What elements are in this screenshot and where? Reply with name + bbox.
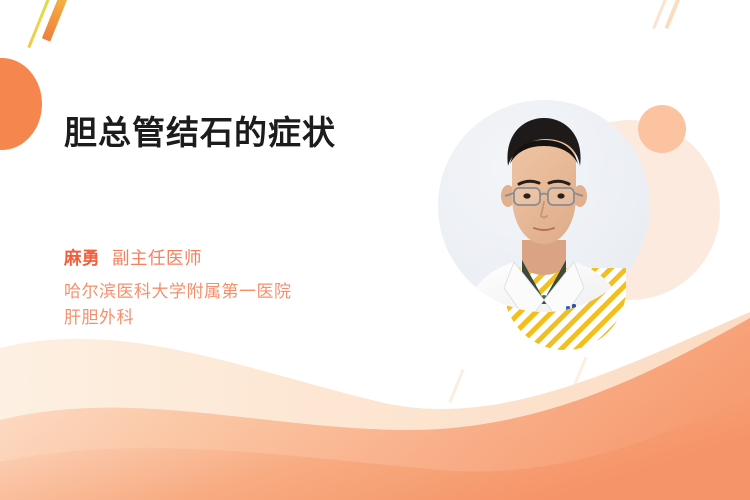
doctor-name-row: 麻勇副主任医师: [64, 245, 424, 271]
page-title: 胆总管结石的症状: [64, 112, 424, 153]
doctor-department: 肝胆外科: [64, 305, 424, 331]
diagonal-stripe-faint-top-right-2: [665, 0, 685, 29]
doctor-portrait-group: [430, 92, 700, 372]
doctor-info-block: 麻勇副主任医师 哈尔滨医科大学附属第一医院 肝胆外科: [64, 245, 424, 331]
doctor-portrait-illustration: [430, 92, 700, 372]
doctor-professional-title: 副主任医师: [112, 248, 202, 268]
text-content-block: 胆总管结石的症状 麻勇副主任医师 哈尔滨医科大学附属第一医院 肝胆外科: [64, 112, 424, 331]
video-thumbnail-card: 胆总管结石的症状 麻勇副主任医师 哈尔滨医科大学附属第一医院 肝胆外科: [0, 0, 750, 500]
orange-circle-decoration: [0, 58, 42, 150]
doctor-name: 麻勇: [64, 248, 100, 268]
doctor-hospital: 哈尔滨医科大学附属第一医院: [64, 279, 424, 305]
